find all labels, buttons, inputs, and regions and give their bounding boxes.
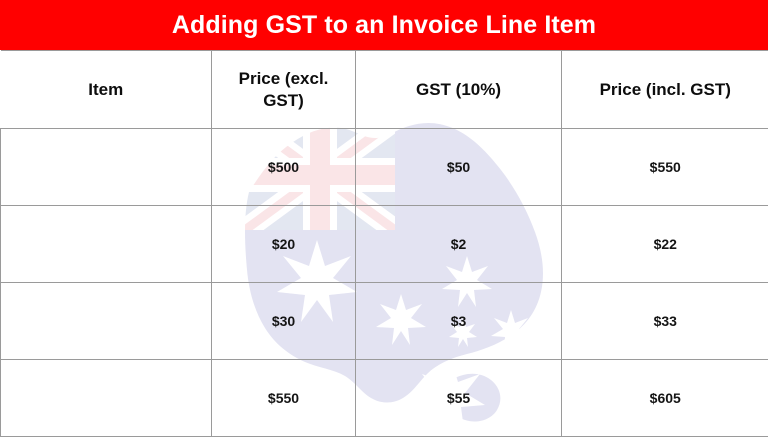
table-row: Monthly Hosting $30 $3 $33 [1, 283, 768, 360]
page-title: Adding GST to an Invoice Line Item [172, 13, 596, 38]
table-header-row: Item Price (excl. GST) GST (10%) Price (… [1, 51, 768, 129]
table-header: Item Price (excl. GST) GST (10%) Price (… [1, 51, 768, 129]
table-row: Web Design Service $500 $50 $550 [1, 129, 768, 206]
cell-gst-total: $55 [356, 360, 562, 437]
cell-gst: $3 [356, 283, 562, 360]
cell-price-incl-gst: $22 [562, 206, 768, 283]
cell-price-excl-gst: $30 [212, 283, 356, 360]
table-row: Domain Registration $20 $2 $22 [1, 206, 768, 283]
column-header-price-incl-gst: Price (incl. GST) [562, 51, 768, 129]
cell-price-excl-gst: $500 [212, 129, 356, 206]
cell-item: Web Design Service [1, 129, 212, 206]
column-header-item: Item [1, 51, 212, 129]
column-header-price-excl-gst: Price (excl. GST) [212, 51, 356, 129]
gst-table-container: Item Price (excl. GST) GST (10%) Price (… [0, 50, 768, 432]
page-root: Adding GST to an Invoice Line Item [0, 0, 768, 432]
cell-item-total: Total [1, 360, 212, 437]
cell-price-excl-gst-total: $550 [212, 360, 356, 437]
cell-item: Monthly Hosting [1, 283, 212, 360]
cell-price-excl-gst: $20 [212, 206, 356, 283]
gst-table: Item Price (excl. GST) GST (10%) Price (… [0, 50, 768, 437]
title-banner: Adding GST to an Invoice Line Item [0, 0, 768, 50]
cell-item: Domain Registration [1, 206, 212, 283]
table-row-total: Total $550 $55 $605 [1, 360, 768, 437]
cell-gst: $50 [356, 129, 562, 206]
table-body: Web Design Service $500 $50 $550 Domain … [1, 129, 768, 437]
cell-price-incl-gst: $33 [562, 283, 768, 360]
cell-gst: $2 [356, 206, 562, 283]
cell-price-incl-gst-total: $605 [562, 360, 768, 437]
column-header-gst: GST (10%) [356, 51, 562, 129]
cell-price-incl-gst: $550 [562, 129, 768, 206]
